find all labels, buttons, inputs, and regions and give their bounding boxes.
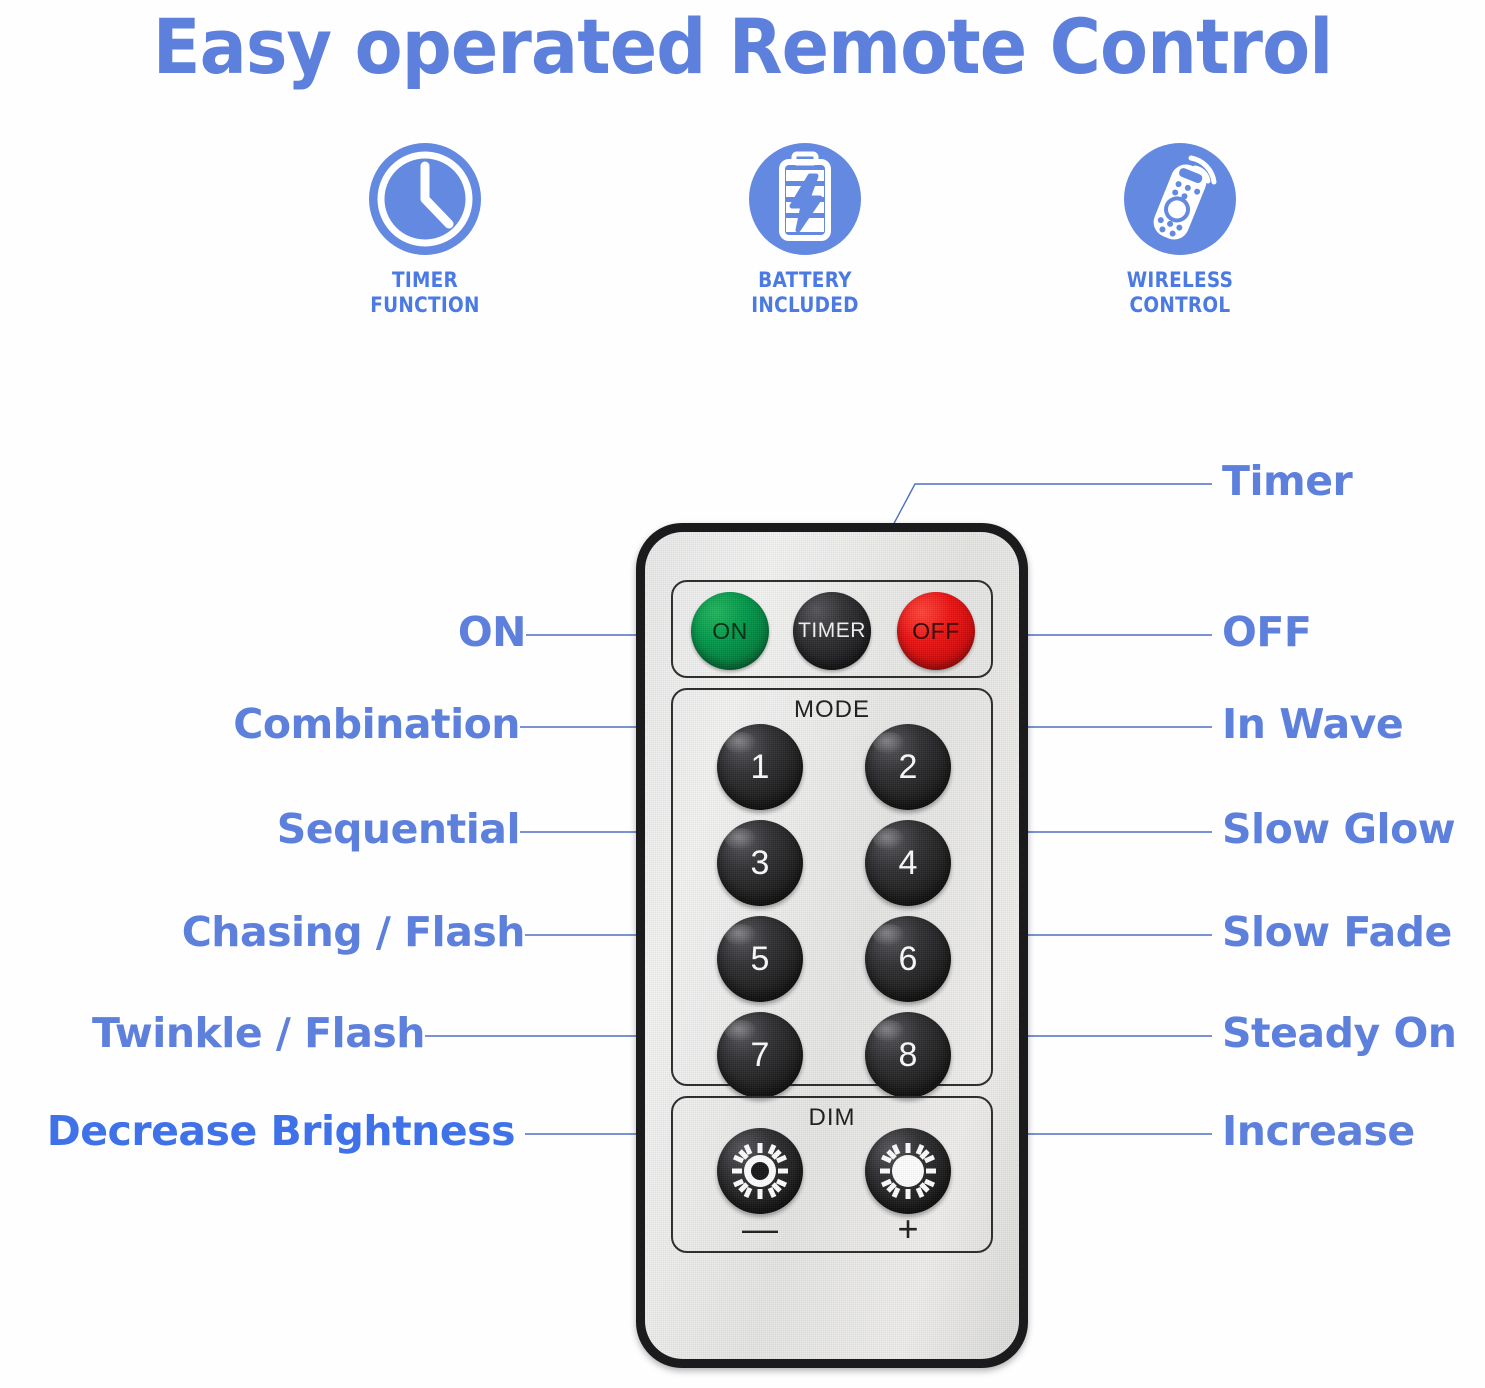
dim-decrease-symbol: — [717, 1214, 803, 1244]
button-mode-4-label: 4 [899, 844, 918, 883]
button-mode-6-label: 6 [899, 940, 918, 979]
brightness-low-icon [729, 1140, 791, 1202]
button-mode-4[interactable]: 4 [865, 820, 951, 906]
button-mode-3-label: 3 [751, 844, 770, 883]
button-mode-8-label: 8 [899, 1036, 918, 1075]
callout-twinkle-flash: Twinkle / Flash [80, 1009, 425, 1057]
button-timer[interactable]: TIMER [793, 592, 871, 670]
callout-sequential: Sequential [120, 805, 520, 853]
button-mode-7[interactable]: 7 [717, 1012, 803, 1098]
callout-steady-on: Steady On [1222, 1009, 1457, 1057]
callout-slow-fade: Slow Fade [1222, 908, 1452, 956]
brightness-high-icon [877, 1140, 939, 1202]
button-off-label: OFF [912, 618, 960, 645]
dim-panel-label: DIM [673, 1104, 991, 1132]
button-on-label: ON [712, 618, 748, 645]
remote-face: ON TIMER OFF MODE 1 2 3 4 [645, 532, 1019, 1359]
remote-control-body: ON TIMER OFF MODE 1 2 3 4 [636, 523, 1028, 1368]
callout-increase: Increase [1222, 1107, 1415, 1155]
button-on[interactable]: ON [691, 592, 769, 670]
callout-on: ON [246, 608, 526, 656]
callout-slow-glow: Slow Glow [1222, 805, 1455, 853]
button-mode-5-label: 5 [751, 940, 770, 979]
mode-panel-label: MODE [673, 696, 991, 724]
product-infographic: Easy operated Remote Control TIMER FUNCT… [0, 0, 1485, 1388]
button-mode-1[interactable]: 1 [717, 724, 803, 810]
button-mode-6[interactable]: 6 [865, 916, 951, 1002]
button-timer-label: TIMER [798, 619, 866, 643]
panel-mode: MODE 1 2 3 4 5 6 7 8 [671, 688, 993, 1086]
callout-combination: Combination [120, 700, 520, 748]
callout-chasing-flash: Chasing / Flash [80, 908, 525, 956]
button-mode-2[interactable]: 2 [865, 724, 951, 810]
button-mode-2-label: 2 [899, 748, 918, 787]
callout-timer: Timer [1222, 457, 1352, 505]
button-mode-5[interactable]: 5 [717, 916, 803, 1002]
dim-increase-symbol: + [865, 1214, 951, 1244]
panel-power: ON TIMER OFF [671, 580, 993, 678]
button-dim-decrease[interactable] [717, 1128, 803, 1214]
button-mode-8[interactable]: 8 [865, 1012, 951, 1098]
callout-in-wave: In Wave [1222, 700, 1403, 748]
button-mode-7-label: 7 [751, 1036, 770, 1075]
button-dim-increase[interactable] [865, 1128, 951, 1214]
callout-decrease-brightness: Decrease Brightness [0, 1107, 515, 1155]
button-mode-3[interactable]: 3 [717, 820, 803, 906]
callout-off: OFF [1222, 608, 1311, 656]
button-off[interactable]: OFF [897, 592, 975, 670]
button-mode-1-label: 1 [751, 748, 770, 787]
panel-dim: DIM [671, 1096, 993, 1253]
